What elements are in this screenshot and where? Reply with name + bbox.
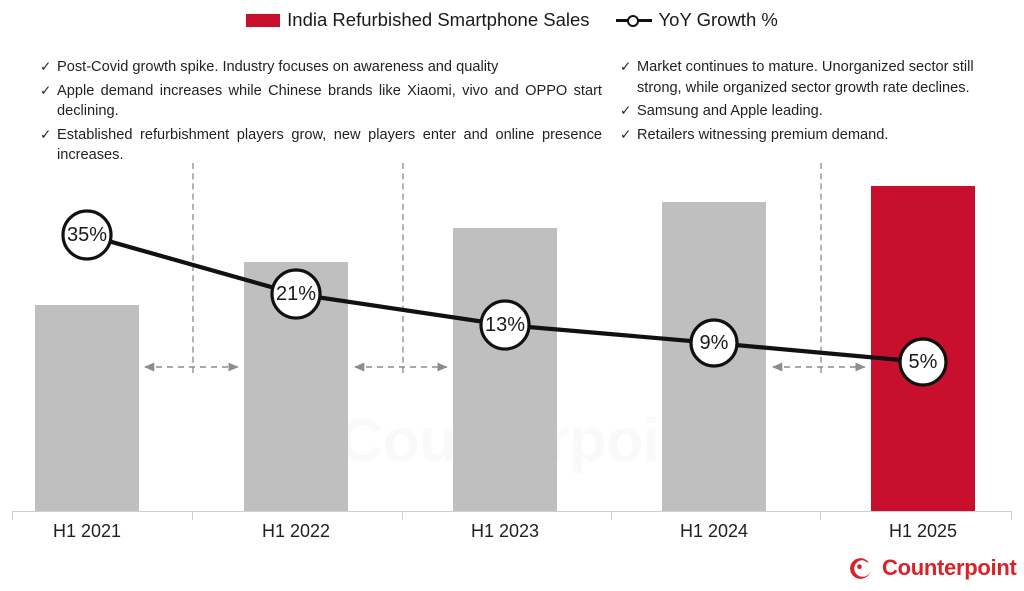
yoy-marker-2023: 13% xyxy=(481,301,529,349)
x-axis-tick xyxy=(1011,511,1012,520)
x-axis-label-h1-2025: H1 2025 xyxy=(843,521,1003,542)
yoy-label-2023: 13% xyxy=(485,314,525,336)
counterpoint-logo-icon xyxy=(848,555,874,581)
yoy-label-2025: 5% xyxy=(909,351,938,373)
logo-text: Counterpoint xyxy=(882,555,1016,581)
yoy-label-2022: 21% xyxy=(276,283,316,305)
yoy-marker-2024: 9% xyxy=(691,320,737,366)
yoy-label-2024: 9% xyxy=(700,332,729,354)
x-axis-tick xyxy=(12,511,13,520)
x-axis-tick xyxy=(192,511,193,520)
x-axis-label-h1-2023: H1 2023 xyxy=(425,521,585,542)
chart-page: India Refurbished Smartphone Sales YoY G… xyxy=(0,0,1024,591)
yoy-marker-2025: 5% xyxy=(900,339,946,385)
yoy-marker-2021: 35% xyxy=(63,211,111,259)
yoy-label-2021: 35% xyxy=(67,224,107,246)
x-axis-label-h1-2021: H1 2021 xyxy=(7,521,167,542)
plot-area: 35% 21% 13% 9% 5% xyxy=(0,0,1024,591)
x-axis-label-h1-2022: H1 2022 xyxy=(216,521,376,542)
yoy-marker-2022: 21% xyxy=(272,270,320,318)
chart-overlay: 35% 21% 13% 9% 5% xyxy=(0,0,1024,591)
counterpoint-logo: Counterpoint xyxy=(848,555,1016,581)
x-axis-label-h1-2024: H1 2024 xyxy=(634,521,794,542)
x-axis-tick xyxy=(820,511,821,520)
x-axis-line xyxy=(12,511,1012,512)
x-axis-tick xyxy=(402,511,403,520)
x-axis-tick xyxy=(611,511,612,520)
